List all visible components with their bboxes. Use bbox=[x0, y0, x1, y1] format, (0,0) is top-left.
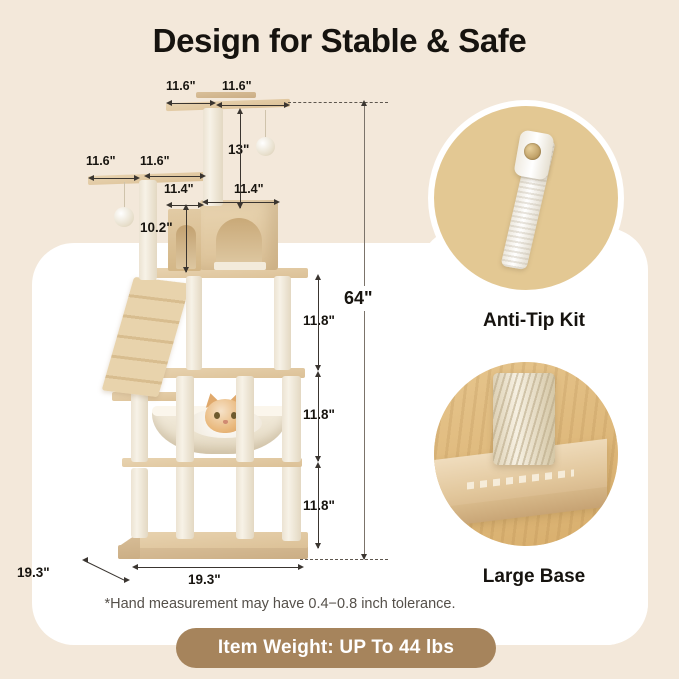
dim-arrow-condo-left-start bbox=[166, 202, 172, 208]
dim-line-base-width bbox=[134, 567, 302, 568]
dim-line-level-gap-2 bbox=[318, 373, 319, 461]
dim-arrow-total-top bbox=[361, 100, 367, 106]
dim-arrow-tier2-right-start bbox=[144, 173, 150, 179]
dim-arrow-base-depth-end bbox=[124, 577, 130, 583]
dim-label-tier2-right-width: 11.6" bbox=[140, 154, 170, 168]
dim-line-condo-right-width bbox=[204, 202, 278, 203]
dim-arrow-condo-height-top bbox=[183, 204, 189, 210]
post-bottom-left bbox=[131, 468, 148, 538]
dim-arrow-condo-height-bottom bbox=[183, 267, 189, 273]
item-weight-label: Item Weight: UP To 44 lbs bbox=[218, 637, 454, 659]
feature-anti-tip-kit-label: Anti-Tip Kit bbox=[428, 310, 640, 332]
anti-tip-kit-image bbox=[428, 100, 624, 296]
dim-guide-bottom bbox=[300, 559, 388, 560]
dim-label-condo-right-width: 11.4" bbox=[234, 182, 264, 196]
dim-arrow-gap1-top bbox=[315, 274, 321, 280]
post-mid-midright bbox=[236, 376, 254, 462]
item-weight-banner: Item Weight: UP To 44 lbs bbox=[176, 628, 496, 668]
dim-guide-top bbox=[288, 102, 388, 103]
dim-line-top-right-width bbox=[218, 105, 288, 106]
dim-arrow-top-left-start bbox=[166, 100, 172, 106]
dim-line-condo-height bbox=[186, 206, 187, 272]
dim-arrow-tier2-left-end bbox=[134, 175, 140, 181]
dim-label-base-depth: 19.3" bbox=[17, 565, 50, 580]
dim-label-top-post-height: 13" bbox=[228, 142, 249, 157]
dim-line-total-height bbox=[364, 102, 365, 559]
screw-icon bbox=[524, 143, 541, 160]
toy-string-upper bbox=[265, 110, 266, 140]
dim-line-level-gap-1 bbox=[318, 276, 319, 370]
dim-arrow-tier2-left-start bbox=[88, 175, 94, 181]
dim-arrow-base-width-end bbox=[298, 564, 304, 570]
dim-arrow-tier2-right-end bbox=[200, 173, 206, 179]
post-condo-left bbox=[186, 276, 202, 370]
post-mid-midleft bbox=[176, 376, 194, 462]
dim-arrow-gap2-top bbox=[315, 371, 321, 377]
dim-arrow-base-depth-start bbox=[82, 557, 88, 563]
dim-line-level-gap-3 bbox=[318, 464, 319, 548]
shelf-hammock-level bbox=[122, 458, 302, 467]
large-base-image bbox=[428, 356, 624, 552]
dim-label-condo-height: 10.2" bbox=[140, 220, 173, 235]
feature-large-base-label: Large Base bbox=[428, 566, 640, 588]
toy-ball-lower bbox=[114, 207, 134, 227]
dim-label-base-width: 19.3" bbox=[188, 572, 221, 587]
dim-arrow-gap3-bottom bbox=[315, 543, 321, 549]
dim-line-base-depth bbox=[84, 560, 126, 581]
dim-arrow-top-post-top bbox=[237, 108, 243, 114]
post-bottom-midright bbox=[236, 465, 254, 539]
cat-nose bbox=[223, 420, 228, 424]
dim-label-tier2-left-width: 11.6" bbox=[86, 154, 116, 168]
feature-anti-tip-kit: Anti-Tip Kit bbox=[428, 100, 640, 332]
measurement-note: *Hand measurement may have 0.4−0.8 inch … bbox=[0, 596, 560, 612]
feature-large-base: Large Base bbox=[428, 356, 640, 588]
dim-arrow-base-width-start bbox=[132, 564, 138, 570]
sisal-post bbox=[493, 373, 555, 465]
dim-line-tier2-left-width bbox=[90, 178, 138, 179]
post-mid-right bbox=[282, 376, 301, 462]
infographic-root: Design for Stable & Safe bbox=[0, 0, 679, 679]
dim-arrow-condo-right-end bbox=[274, 199, 280, 205]
toy-string-lower bbox=[124, 182, 125, 210]
cat-eye-left bbox=[214, 412, 220, 419]
dim-label-top-left-width: 11.6" bbox=[166, 79, 196, 93]
dim-arrow-top-post-bottom bbox=[237, 203, 243, 209]
dim-label-total-height: 64" bbox=[340, 286, 377, 311]
condo-interior-cushion bbox=[214, 262, 266, 270]
dim-line-top-left-width bbox=[168, 103, 214, 104]
post-top bbox=[203, 108, 223, 206]
dim-arrow-top-right-start bbox=[216, 102, 222, 108]
dim-arrow-condo-right-start bbox=[202, 199, 208, 205]
post-condo-right bbox=[274, 276, 291, 370]
dim-arrow-total-bottom bbox=[361, 554, 367, 560]
dim-label-condo-left-width: 11.4" bbox=[164, 182, 194, 196]
toy-ball-upper bbox=[256, 137, 275, 156]
post-bottom-midleft bbox=[176, 465, 194, 539]
dim-label-top-right-width: 11.6" bbox=[222, 79, 252, 93]
dim-line-tier2-right-width bbox=[146, 176, 204, 177]
cat-tree-diagram: 11.6" 11.6" 13" 11.6" 11.6" 11.4" 11.4" bbox=[0, 70, 420, 590]
post-bottom-right bbox=[282, 463, 301, 541]
dim-arrow-gap3-top bbox=[315, 462, 321, 468]
page-title: Design for Stable & Safe bbox=[0, 22, 679, 60]
